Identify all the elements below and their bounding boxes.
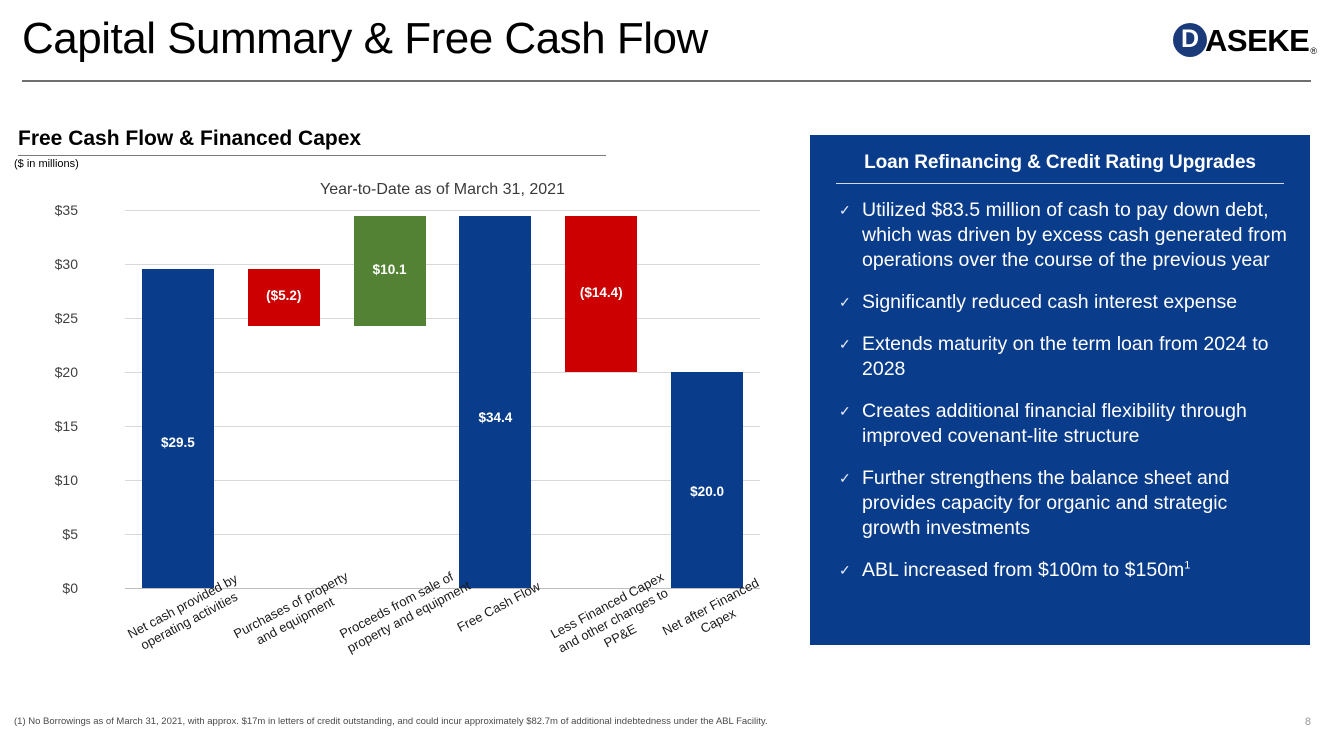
chart-bar-value-label: ($14.4) — [565, 285, 637, 300]
y-axis-tick-label: $35 — [18, 202, 78, 218]
panel-title: Loan Refinancing & Credit Rating Upgrade… — [832, 152, 1288, 174]
footnote: (1) No Borrowings as of March 31, 2021, … — [14, 716, 768, 727]
check-icon: ✓ — [832, 399, 862, 424]
panel-bullet-item: ✓Utilized $83.5 million of cash to pay d… — [832, 198, 1288, 273]
panel-bullet-item: ✓Extends maturity on the term loan from … — [832, 332, 1288, 382]
logo-wordmark: ASEKE — [1205, 25, 1309, 56]
check-icon: ✓ — [832, 290, 862, 315]
footnote-marker: 1 — [1184, 560, 1190, 572]
daseke-logo: D ASEKE ® — [1173, 21, 1317, 59]
y-axis-tick-label: $20 — [18, 364, 78, 380]
panel-bullet-item: ✓Further strengthens the balance sheet a… — [832, 466, 1288, 541]
panel-bullet-item: ✓ABL increased from $100m to $150m1 — [832, 558, 1288, 583]
panel-bullet-text: ABL increased from $100m to $150m1 — [862, 558, 1288, 583]
chart-gridline — [125, 426, 760, 427]
logo-mark-letter: D — [1181, 27, 1199, 52]
y-axis-tick-label: $30 — [18, 256, 78, 272]
chart-bar[interactable] — [142, 269, 214, 588]
chart-bar-value-label: $29.5 — [142, 435, 214, 450]
chart-gridline — [125, 372, 760, 373]
loan-refinancing-panel: Loan Refinancing & Credit Rating Upgrade… — [810, 135, 1310, 645]
y-axis-tick-label: $15 — [18, 418, 78, 434]
chart-bar-value-label: $20.0 — [671, 484, 743, 499]
chart-gridline — [125, 480, 760, 481]
panel-bullet-item: ✓Significantly reduced cash interest exp… — [832, 290, 1288, 315]
chart-bar-value-label: $34.4 — [459, 410, 531, 425]
panel-bullet-text: Creates additional financial flexibility… — [862, 399, 1288, 449]
chart-bar-value-label: $10.1 — [354, 262, 426, 277]
chart-bar-value-label: ($5.2) — [248, 288, 320, 303]
panel-bullet-item: ✓Creates additional financial flexibilit… — [832, 399, 1288, 449]
logo-trademark: ® — [1309, 46, 1317, 59]
check-icon: ✓ — [832, 466, 862, 491]
panel-divider — [836, 183, 1284, 184]
y-axis-tick-label: $5 — [18, 526, 78, 542]
logo-circle-d-icon: D — [1173, 23, 1207, 57]
y-axis-tick-label: $10 — [18, 472, 78, 488]
panel-bullet-list: ✓Utilized $83.5 million of cash to pay d… — [832, 198, 1288, 583]
chart-bar[interactable] — [671, 372, 743, 588]
page-number: 8 — [1305, 716, 1311, 728]
panel-bullet-text: Further strengthens the balance sheet an… — [862, 466, 1288, 541]
y-axis-tick-label: $0 — [18, 580, 78, 596]
free-cash-flow-waterfall-chart: $0$5$10$15$20$25$30$35$29.5($5.2)$10.1$3… — [0, 0, 800, 600]
y-axis-tick-label: $25 — [18, 310, 78, 326]
chart-bar[interactable] — [459, 216, 531, 588]
check-icon: ✓ — [832, 332, 862, 357]
check-icon: ✓ — [832, 198, 862, 223]
panel-bullet-text: Extends maturity on the term loan from 2… — [862, 332, 1288, 382]
chart-gridline — [125, 534, 760, 535]
panel-bullet-text: Utilized $83.5 million of cash to pay do… — [862, 198, 1288, 273]
panel-bullet-text: Significantly reduced cash interest expe… — [862, 290, 1288, 315]
chart-plot-area: $0$5$10$15$20$25$30$35$29.5($5.2)$10.1$3… — [125, 210, 760, 588]
chart-gridline — [125, 318, 760, 319]
chart-gridline — [125, 264, 760, 265]
check-icon: ✓ — [832, 558, 862, 583]
chart-gridline — [125, 210, 760, 211]
slide-canvas: Capital Summary & Free Cash Flow D ASEKE… — [0, 0, 1333, 750]
